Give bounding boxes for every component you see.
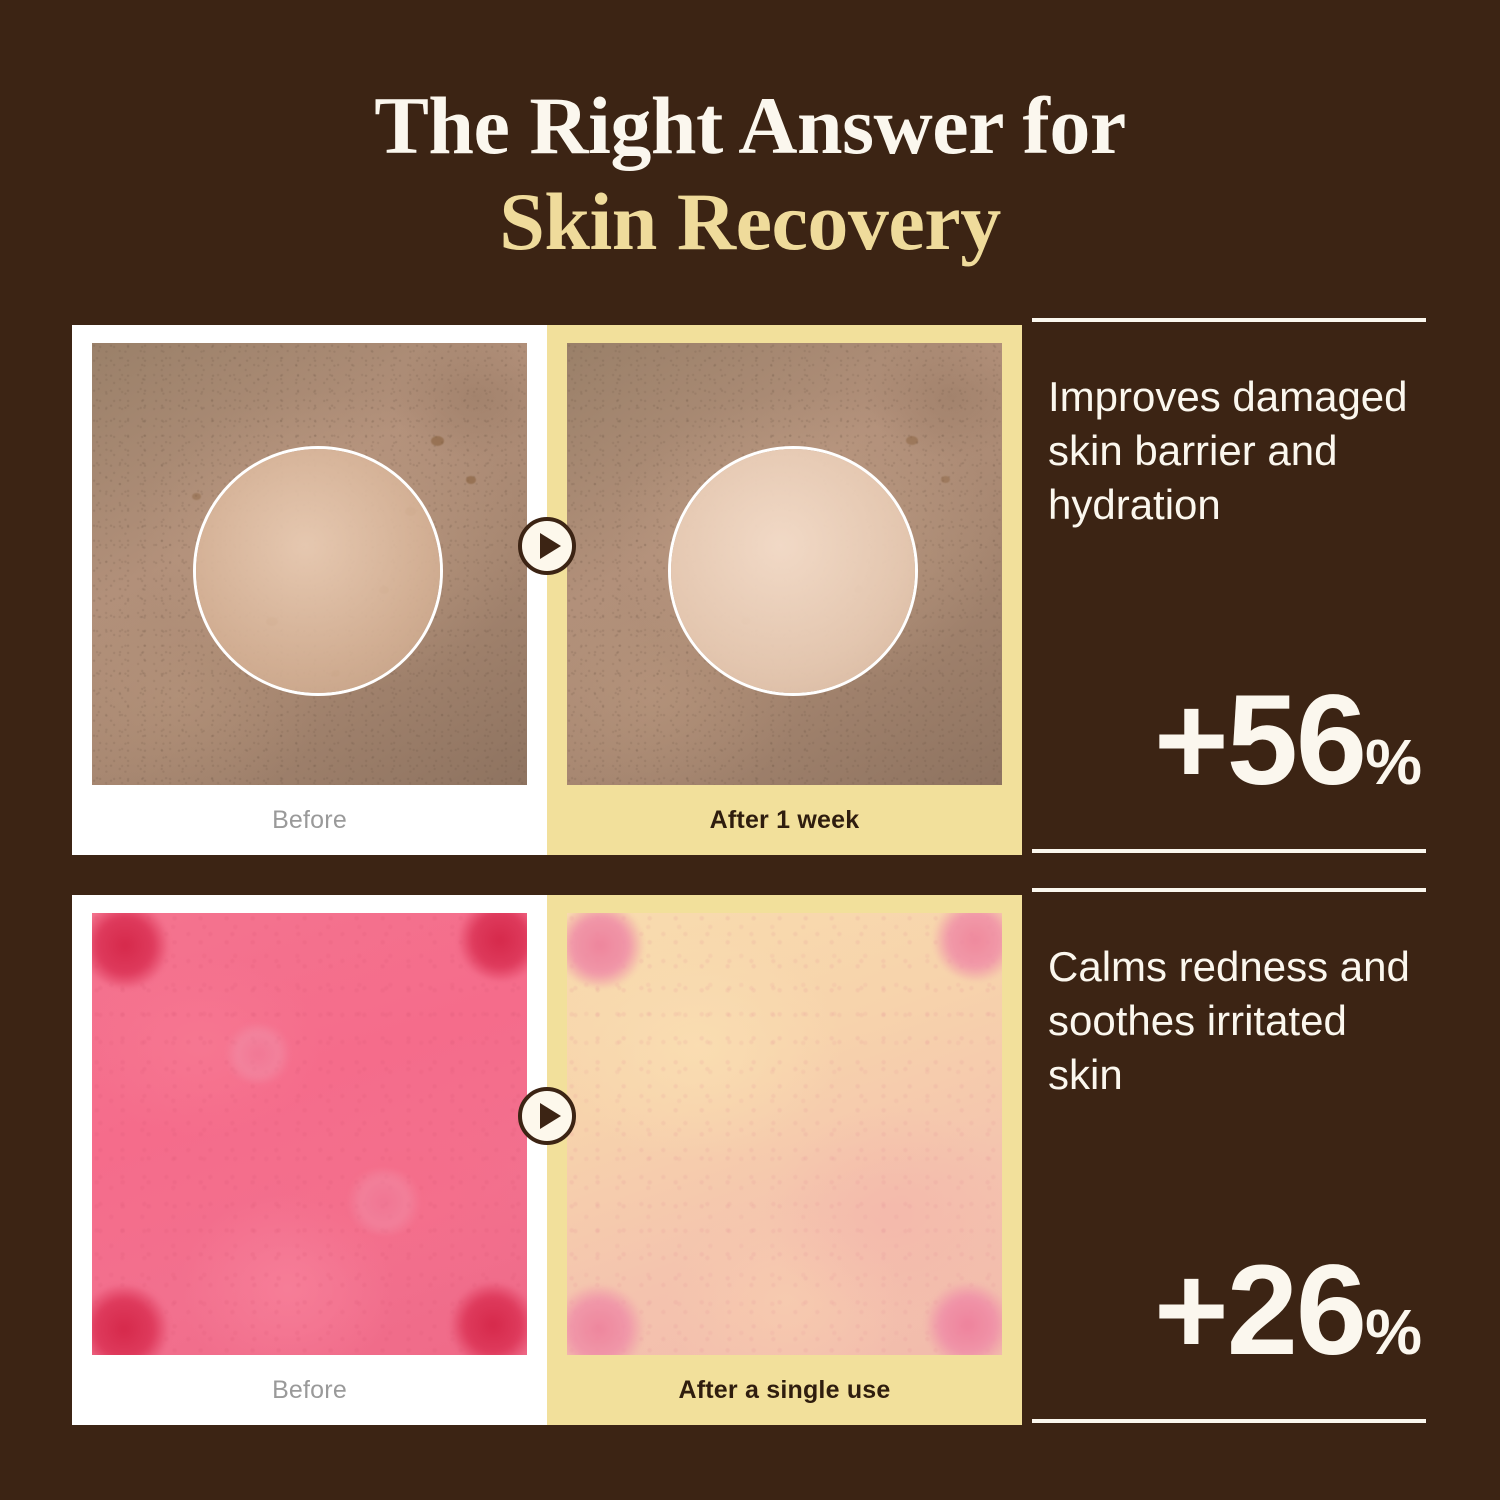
title-line-1: The Right Answer for	[0, 85, 1500, 167]
stat-percent-symbol: %	[1365, 1296, 1422, 1368]
after-panel: After a single use	[547, 895, 1022, 1425]
after-caption: After 1 week	[710, 785, 860, 855]
stat-value: +26%	[1154, 1247, 1422, 1375]
stat-number: +56	[1154, 669, 1365, 812]
magnifier-circle	[193, 446, 443, 696]
before-panel: Before	[72, 895, 547, 1425]
benefit-block-redness: Calms redness and soothes irritated skin…	[1032, 888, 1426, 1423]
comparison-row-redness: Before After a single use	[72, 895, 1022, 1425]
play-arrow-icon[interactable]	[518, 1087, 576, 1145]
comparison-row-skin-barrier: Before After 1 week	[72, 325, 1022, 855]
promo-graphic: The Right Answer for Skin Recovery	[0, 0, 1500, 1500]
benefit-claim-text: Calms redness and soothes irritated skin	[1048, 940, 1426, 1101]
play-arrow-icon[interactable]	[518, 517, 576, 575]
skin-pore-texture	[567, 913, 1002, 1355]
skin-pore-texture	[92, 913, 527, 1355]
after-photo	[567, 913, 1002, 1355]
benefit-claim-text: Improves damaged skin barrier and hydrat…	[1048, 370, 1426, 531]
before-caption: Before	[272, 1355, 347, 1425]
stat-value: +56%	[1154, 677, 1422, 805]
stat-percent-symbol: %	[1365, 726, 1422, 798]
before-photo	[92, 913, 527, 1355]
benefit-block-skin-barrier: Improves damaged skin barrier and hydrat…	[1032, 318, 1426, 853]
page-title: The Right Answer for Skin Recovery	[0, 85, 1500, 263]
magnifier-circle	[668, 446, 918, 696]
after-photo	[567, 343, 1002, 785]
divider-bottom	[1032, 849, 1426, 853]
before-panel: Before	[72, 325, 547, 855]
before-photo	[92, 343, 527, 785]
divider-bottom	[1032, 1419, 1426, 1423]
before-caption: Before	[272, 785, 347, 855]
title-line-2: Skin Recovery	[0, 181, 1500, 263]
after-caption: After a single use	[679, 1355, 891, 1425]
stat-number: +26	[1154, 1239, 1365, 1382]
after-panel: After 1 week	[547, 325, 1022, 855]
